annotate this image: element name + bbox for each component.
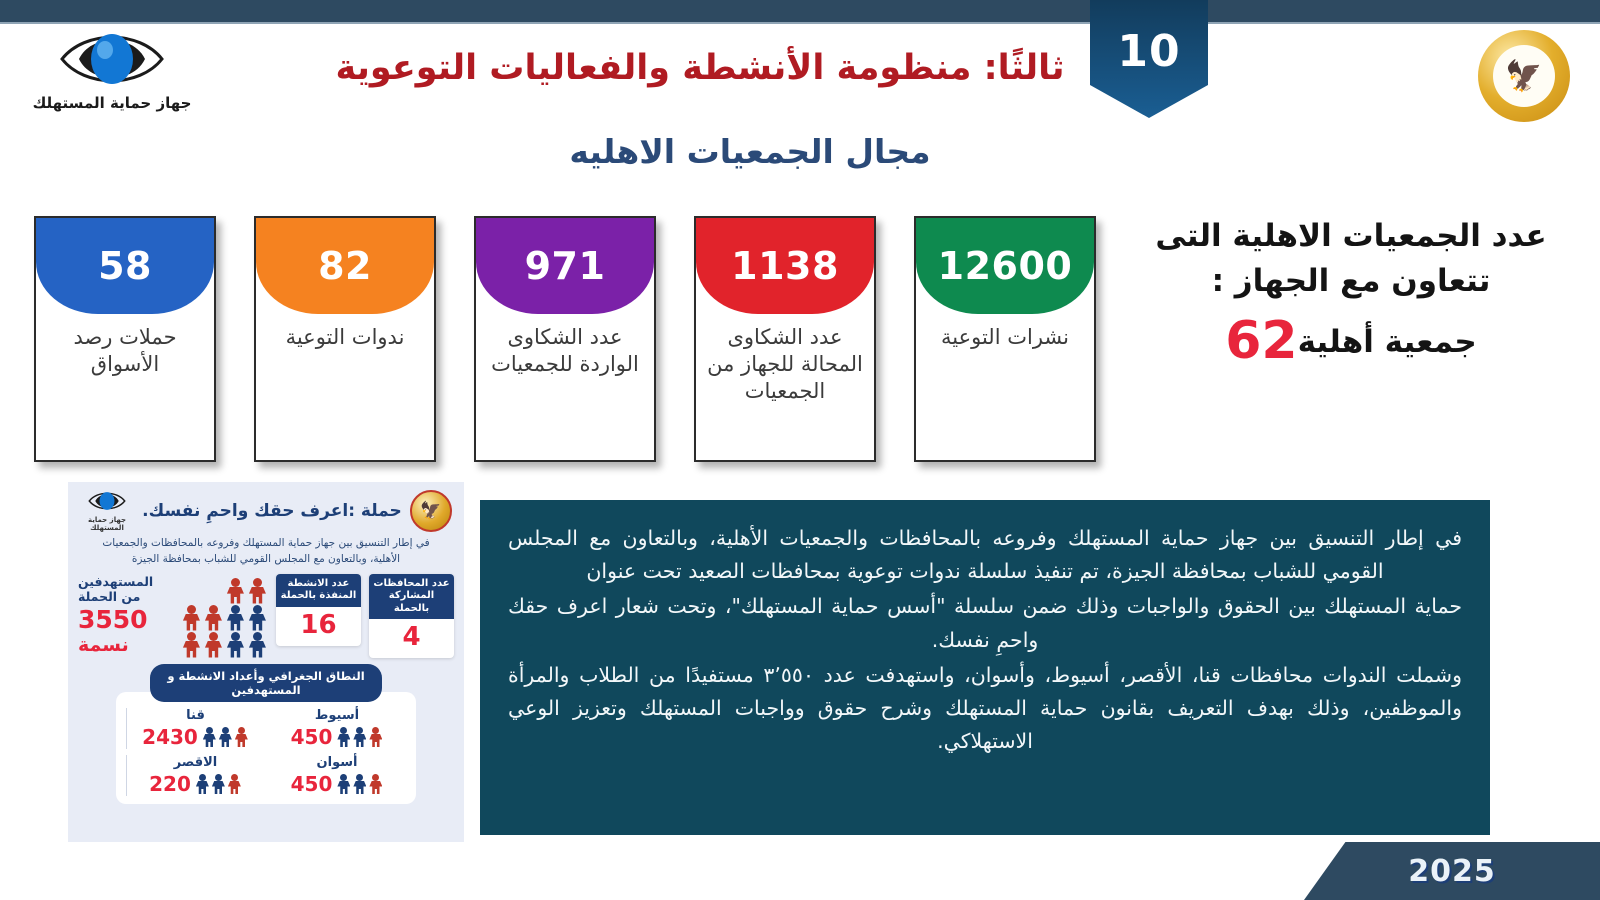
governorate-value-row: 220 — [127, 772, 264, 796]
headline-line-1: عدد الجمعيات الاهلية التى — [1120, 214, 1582, 259]
consumer-protection-logo: جهاز حماية المستهلك — [22, 28, 202, 138]
stat-card-header: 58 — [36, 218, 214, 314]
person-icon — [181, 632, 202, 658]
governorate-value: 2430 — [142, 725, 198, 749]
year-banner: 2025 — [1304, 842, 1600, 900]
person-icon — [352, 774, 367, 794]
person-icon — [225, 578, 246, 604]
governorate-name: أسيوط — [268, 708, 406, 723]
person-icon — [352, 727, 367, 747]
headline-line-2: تتعاون مع الجهاز : — [1120, 259, 1582, 304]
person-icon — [195, 774, 210, 794]
campaign-title: حملة :اعرف حقك واحمِ نفسك. — [134, 501, 410, 521]
logo-caption: جهاز حماية المستهلك — [33, 94, 192, 112]
top-bar-hairline — [0, 22, 1600, 24]
governorate-name: أسوان — [268, 755, 406, 770]
activities-count-value: 16 — [276, 607, 361, 646]
stat-card-header: 971 — [476, 218, 654, 314]
headline-unit: جمعية أهلية — [1298, 324, 1477, 360]
associations-headline: عدد الجمعيات الاهلية التى تتعاون مع الجه… — [1120, 214, 1582, 379]
audience-pictogram — [177, 574, 268, 658]
governorates-grid: أسيوط 450 قنا 2430 — [116, 692, 416, 804]
activities-count-box: عدد الانشطة المنفذة بالحملة 16 — [276, 574, 361, 646]
slide-number-ribbon: 10 — [1090, 0, 1208, 118]
stat-card-label: ندوات التوعية — [278, 324, 413, 351]
governorate-value-row: 450 — [268, 725, 406, 749]
stat-card-label: عدد الشكاوى الواردة للجمعيات — [476, 324, 654, 378]
governorate-name: الاقصر — [127, 755, 264, 770]
person-icon — [368, 774, 383, 794]
campaign-infographic: جهاز حماية المستهلك حملة :اعرف حقك واحمِ… — [68, 482, 464, 842]
person-icon — [336, 727, 351, 747]
stat-card: 971 عدد الشكاوى الواردة للجمعيات — [474, 216, 656, 462]
governorate-value: 450 — [291, 772, 333, 796]
stat-card: 82 ندوات التوعية — [254, 216, 436, 462]
stat-card-value: 1138 — [731, 244, 839, 288]
governorate-cell: أسيوط 450 — [268, 708, 406, 749]
narrative-paragraph-3: وشملت الندوات محافظات قنا، الأقصر، أسيوط… — [508, 659, 1462, 759]
person-icon — [225, 632, 246, 658]
stat-card-value: 82 — [318, 244, 372, 288]
person-icon — [247, 632, 268, 658]
infographic-header: جهاز حماية المستهلك حملة :اعرف حقك واحمِ… — [68, 482, 464, 532]
narrative-paragraph-2: حماية المستهلك بين الحقوق والواجبات وذلك… — [508, 590, 1462, 656]
governorate-pictogram — [202, 727, 249, 747]
infographic-agency-logo: جهاز حماية المستهلك — [80, 490, 134, 532]
governorate-pictogram — [336, 727, 383, 747]
stat-card-value: 971 — [525, 244, 606, 288]
top-bar — [0, 0, 1600, 22]
activities-count-label: عدد الانشطة المنفذة بالحملة — [276, 574, 361, 607]
narrative-panel: في إطار التنسيق بين جهاز حماية المستهلك … — [480, 500, 1490, 835]
person-icon — [218, 727, 233, 747]
person-icon — [181, 605, 202, 631]
stat-card-value: 58 — [98, 244, 152, 288]
stat-cards-row: 58 حملات رصد الأسواق 82 ندوات التوعية 97… — [34, 216, 1096, 462]
person-icon — [211, 774, 226, 794]
stat-card-header: 82 — [256, 218, 434, 314]
person-icon — [336, 774, 351, 794]
governorate-value-row: 450 — [268, 772, 406, 796]
governorate-pictogram — [195, 774, 242, 794]
narrative-paragraph-1: في إطار التنسيق بين جهاز حماية المستهلك … — [508, 522, 1462, 588]
stat-card: 12600 نشرات التوعية — [914, 216, 1096, 462]
headline-count-row: جمعية أهلية62 — [1120, 304, 1582, 379]
governorate-value: 220 — [149, 772, 191, 796]
governorate-pictogram — [336, 774, 383, 794]
eye-logo-icon — [84, 490, 130, 512]
person-icon — [227, 774, 242, 794]
government-emblem: 🦅 — [1468, 22, 1580, 134]
governorate-cell: أسوان 450 — [268, 755, 406, 796]
target-audience-label: المستهدفين من الحملة — [78, 574, 169, 605]
governorate-name: قنا — [127, 708, 264, 723]
stat-card-label: نشرات التوعية — [933, 324, 1077, 351]
governorates-count-box: عدد المحافظات المشاركة بالحملة 4 — [369, 574, 454, 659]
governorates-count-label: عدد المحافظات المشاركة بالحملة — [369, 574, 454, 620]
governorate-value-row: 2430 — [127, 725, 264, 749]
stat-card: 1138 عدد الشكاوى المحالة للجهاز من الجمع… — [694, 216, 876, 462]
person-icon — [202, 727, 217, 747]
stat-card: 58 حملات رصد الأسواق — [34, 216, 216, 462]
person-icon — [234, 727, 249, 747]
egypt-eagle-emblem-icon: 🦅 — [410, 490, 452, 532]
page-subtitle: مجال الجمعيات الاهليه — [430, 132, 1070, 171]
governorates-count-value: 4 — [369, 619, 454, 658]
eagle-glyph-icon: 🦅 — [1493, 45, 1555, 107]
governorate-cell: قنا 2430 — [126, 708, 264, 749]
year-label: 2025 — [1408, 854, 1496, 889]
governorate-cell: الاقصر 220 — [126, 755, 264, 796]
target-audience-block: المستهدفين من الحملة 3550 نسمة — [78, 574, 169, 656]
person-icon — [203, 605, 224, 631]
stat-card-label: عدد الشكاوى المحالة للجهاز من الجمعيات — [696, 324, 874, 405]
geographic-scope-pill: النطاق الجغرافي وأعداد الانشطة و المستهد… — [150, 664, 382, 702]
stat-card-value: 12600 — [938, 244, 1073, 288]
campaign-metrics-row: المستهدفين من الحملة 3550 نسمة عدد الانش… — [68, 568, 464, 659]
person-icon — [225, 605, 246, 631]
slide-root: 10 جهاز حماية المستهلك 🦅 ثالثًا: منظومة … — [0, 0, 1600, 900]
stat-card-header: 12600 — [916, 218, 1094, 314]
person-icon — [203, 632, 224, 658]
person-icon — [368, 727, 383, 747]
stat-card-header: 1138 — [696, 218, 874, 314]
page-title: ثالثًا: منظومة الأنشطة والفعاليات التوعو… — [330, 48, 1070, 88]
slide-number: 10 — [1117, 26, 1180, 77]
eye-logo-icon — [57, 28, 167, 90]
person-icon — [247, 578, 268, 604]
headline-count: 62 — [1225, 304, 1297, 379]
egypt-eagle-emblem-icon: 🦅 — [1478, 30, 1570, 122]
campaign-description: في إطار التنسيق بين جهاز حماية المستهلك … — [68, 532, 464, 568]
target-audience-value: 3550 — [78, 605, 169, 634]
stat-card-label: حملات رصد الأسواق — [36, 324, 214, 378]
governorate-value: 450 — [291, 725, 333, 749]
target-audience-unit: نسمة — [78, 634, 169, 656]
person-icon — [247, 605, 268, 631]
infographic-logo-caption: جهاز حماية المستهلك — [80, 516, 134, 532]
